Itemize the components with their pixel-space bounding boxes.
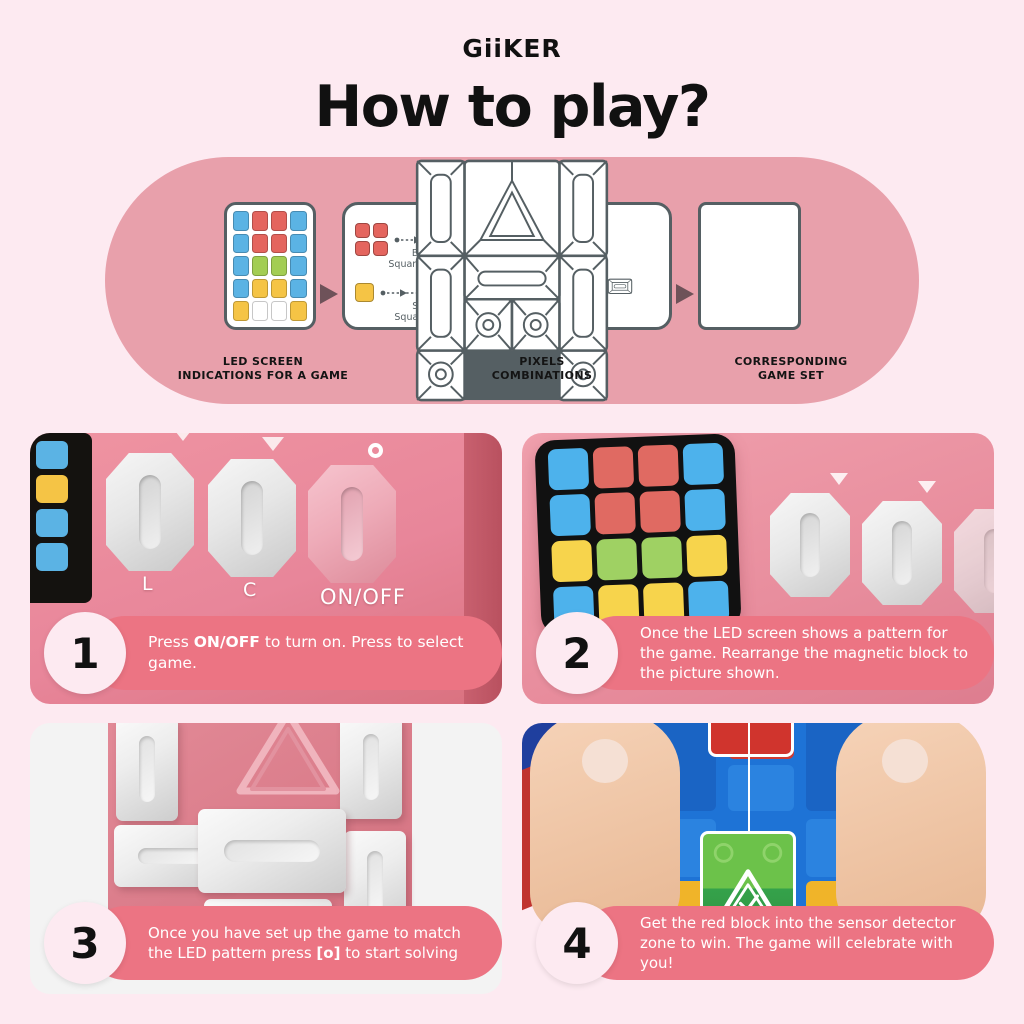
triangle-marker-icon	[262, 437, 284, 451]
led-pixel	[549, 494, 591, 537]
diagram-captions: LED SCREEN INDICATIONS FOR A GAME PIXELS…	[105, 355, 919, 383]
led-tile	[36, 509, 68, 537]
device-button[interactable]	[770, 493, 850, 597]
cube-tile[interactable]	[728, 765, 794, 811]
corresponding-game-set-card	[698, 202, 801, 330]
led-pixel	[594, 492, 636, 535]
button-label-onoff: ON/OFF	[320, 585, 406, 609]
led-pixel	[641, 536, 683, 579]
step-number-badge-4: 4	[536, 902, 618, 984]
step-number-badge-2: 2	[536, 612, 618, 694]
triangle-marker-icon	[830, 473, 848, 485]
led-pixel	[593, 446, 635, 489]
step-caption-2: Once the LED screen shows a pattern for …	[580, 616, 994, 690]
device-button[interactable]	[862, 501, 942, 605]
page-title: How to play?	[0, 74, 1024, 140]
step-number-badge-1: 1	[44, 612, 126, 694]
led-pixel	[551, 540, 593, 583]
button-L[interactable]	[106, 453, 194, 571]
led-pixel	[638, 444, 680, 487]
brand-logo: GiiKER	[0, 34, 1024, 63]
device-button[interactable]	[954, 509, 994, 613]
step-card-4: 4 Get the red block into the sensor dete…	[522, 723, 994, 994]
led-tile	[36, 543, 68, 571]
puzzle-block[interactable]	[116, 723, 178, 821]
brand-logo-text: GiiKER	[462, 34, 561, 63]
led-pixel	[596, 538, 638, 581]
caption-led-screen: LED SCREEN INDICATIONS FOR A GAME	[133, 355, 393, 383]
triangle-marker-icon	[172, 433, 194, 441]
button-label-L: L	[142, 573, 154, 595]
step-card-3: 3 Once you have set up the game to match…	[30, 723, 502, 994]
triangle-marker-icon	[918, 481, 936, 493]
triangle-target-icon	[232, 723, 344, 797]
step-card-1: L C ON/OFF 1 Press ON/OFF to turn on. Pr…	[30, 433, 502, 704]
led-tile	[36, 475, 68, 503]
hand-right	[836, 723, 986, 933]
step-caption-1: Press ON/OFF to turn on. Press to select…	[88, 616, 502, 690]
step-caption-3: Once you have set up the game to match t…	[88, 906, 502, 980]
puzzle-block-wide[interactable]	[198, 809, 346, 893]
button-onoff[interactable]	[308, 465, 396, 583]
led-pixel	[639, 490, 681, 533]
sensor-detector-zone	[708, 723, 794, 757]
caption-pixels-combinations: PIXELS COMBINATIONS	[442, 355, 642, 383]
led-pixel	[683, 443, 725, 486]
step-number-badge-3: 3	[44, 902, 126, 984]
step-card-2: 2 Once the LED screen shows a pattern fo…	[522, 433, 994, 704]
led-pixel	[548, 448, 590, 491]
power-circle-icon	[368, 443, 383, 458]
connector-line	[748, 723, 750, 835]
led-pixel	[684, 489, 726, 532]
caption-corresponding-game-set: CORRESPONDING GAME SET	[691, 355, 891, 383]
step-caption-4: Get the red block into the sensor detect…	[580, 906, 994, 980]
hand-left	[530, 723, 680, 933]
led-tile	[36, 441, 68, 469]
button-C[interactable]	[208, 459, 296, 577]
puzzle-block[interactable]	[340, 723, 402, 819]
button-label-C: C	[243, 579, 257, 601]
led-pixel	[686, 535, 728, 578]
led-screen	[534, 433, 741, 636]
